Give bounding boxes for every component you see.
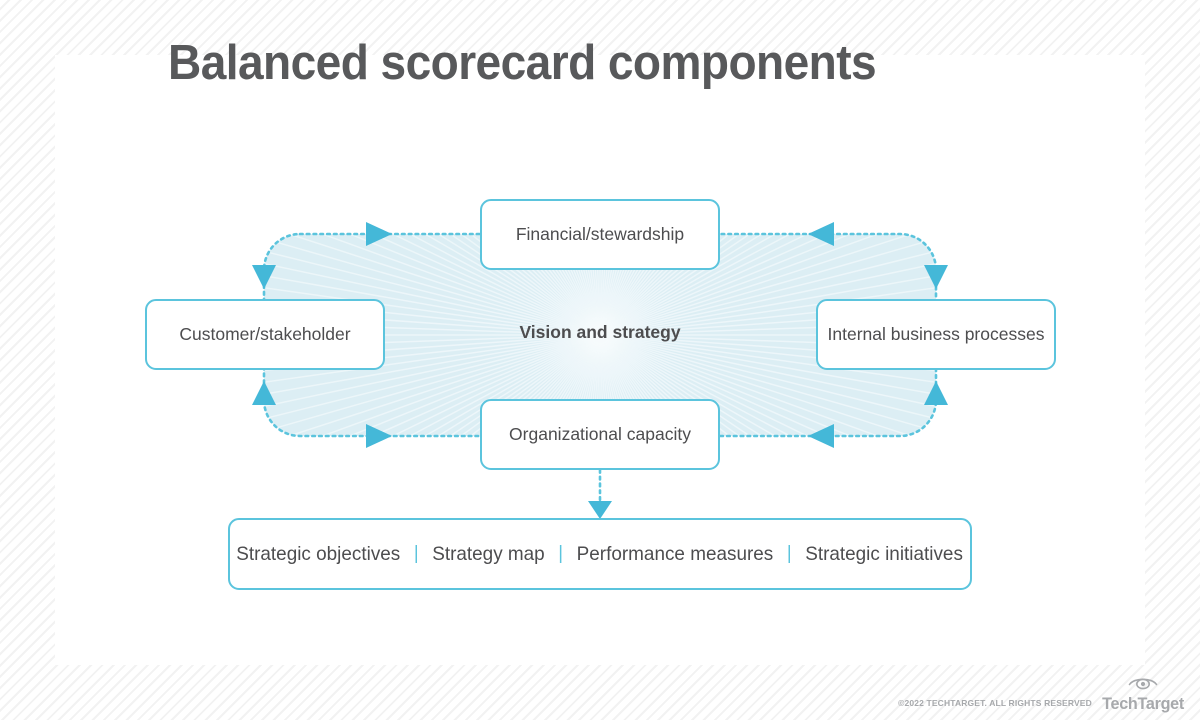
node-label: Financial/stewardship <box>516 223 684 246</box>
output-item-performance-measures[interactable]: Performance measures <box>577 543 774 566</box>
center-label-vision-and-strategy: Vision and strategy <box>460 322 740 343</box>
output-separator: | <box>787 543 792 565</box>
outputs-box[interactable]: Strategic objectives | Strategy map | Pe… <box>228 518 972 590</box>
output-item-strategic-initiatives[interactable]: Strategic initiatives <box>806 543 964 566</box>
output-separator: | <box>559 543 564 565</box>
node-internal-business-processes[interactable]: Internal business processes <box>816 299 1056 370</box>
eye-icon <box>1128 675 1158 695</box>
techtarget-logo: TechTarget <box>1100 675 1186 716</box>
footer: ©2022 TECHTARGET. ALL RIGHTS RESERVED Te… <box>898 675 1186 716</box>
logo-wordmark: TechTarget <box>1102 695 1184 712</box>
outputs-list: Strategic objectives | Strategy map | Pe… <box>237 543 964 566</box>
output-item-strategic-objectives[interactable]: Strategic objectives <box>237 543 401 566</box>
page-title: Balanced scorecard components <box>168 35 920 91</box>
node-organizational-capacity[interactable]: Organizational capacity <box>480 399 720 470</box>
output-separator: | <box>414 543 419 565</box>
node-customer-stakeholder[interactable]: Customer/stakeholder <box>145 299 385 370</box>
node-label: Customer/stakeholder <box>179 323 350 346</box>
node-financial-stewardship[interactable]: Financial/stewardship <box>480 199 720 270</box>
copyright-text: ©2022 TECHTARGET. ALL RIGHTS RESERVED <box>898 698 1092 716</box>
node-label: Organizational capacity <box>509 423 691 446</box>
node-label: Internal business processes <box>828 323 1045 346</box>
output-item-strategy-map[interactable]: Strategy map <box>433 543 546 566</box>
